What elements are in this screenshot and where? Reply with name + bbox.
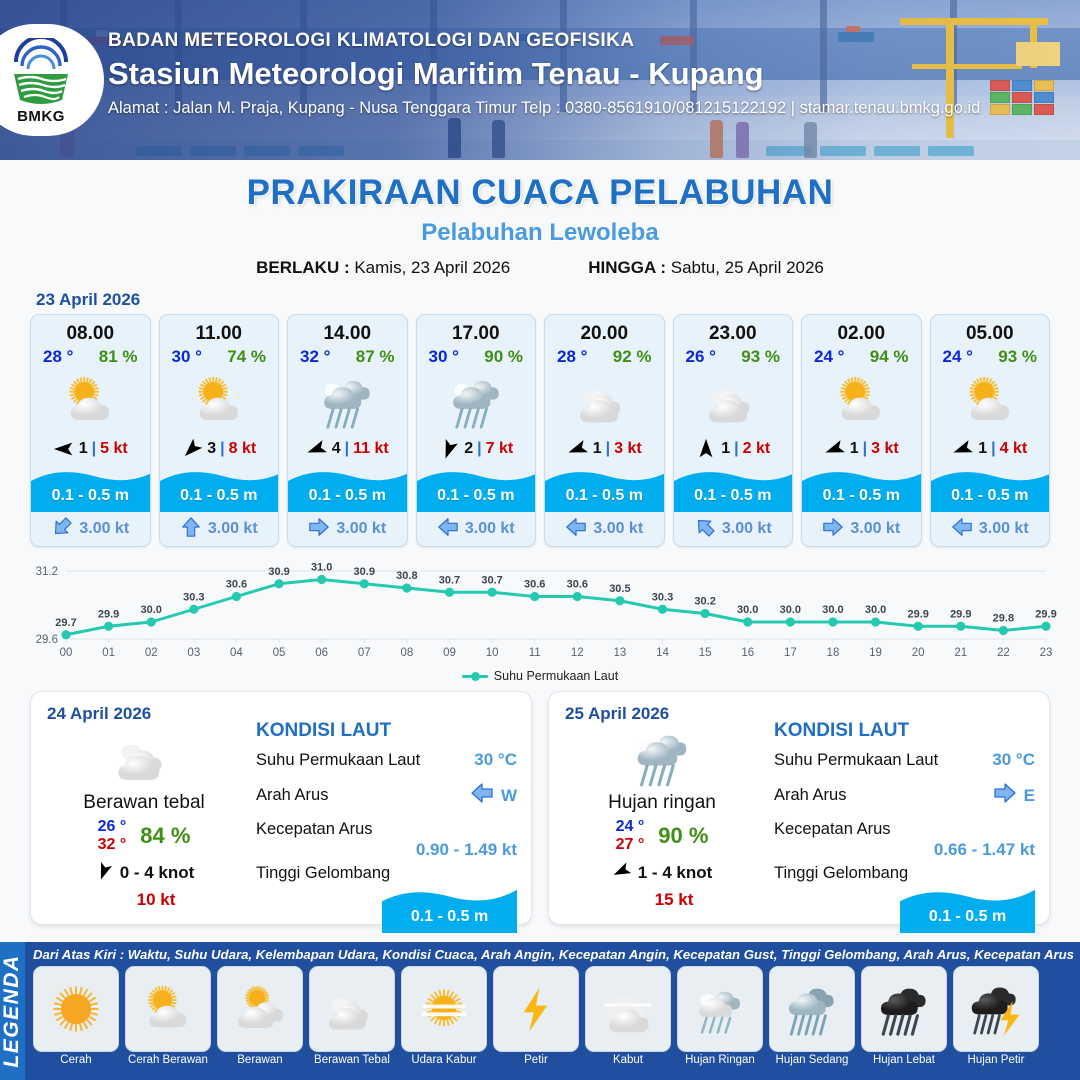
current-speed: 3.00 kt: [79, 520, 129, 538]
wind-direction-icon: [824, 438, 846, 460]
wind-scale: 1: [79, 440, 88, 458]
svg-text:29.9: 29.9: [907, 608, 928, 620]
station-name: Stasiun Meteorologi Maritim Tenau - Kupa…: [108, 56, 980, 92]
wind-row: 3 | 8 kt: [160, 434, 279, 464]
sea-row-label: Suhu Permukaan Laut: [774, 751, 938, 770]
legend-item-label: Berawan: [217, 1054, 303, 1066]
forecast-time: 11.00: [160, 315, 279, 345]
humidity: 92 %: [613, 347, 652, 367]
chart-legend-marker: [462, 675, 488, 678]
wind-separator: |: [991, 440, 995, 458]
wave-height-band: 0.1 - 0.5 m: [417, 465, 536, 512]
svg-text:29.9: 29.9: [1035, 608, 1056, 620]
svg-text:01: 01: [102, 647, 115, 659]
daily-temp-min: 24 °: [616, 818, 645, 836]
current-row: 3.00 kt: [674, 512, 793, 546]
svg-text:08: 08: [400, 647, 413, 659]
wave-height-badge: 0.1 - 0.5 m: [900, 885, 1035, 933]
svg-text:30.9: 30.9: [268, 566, 289, 578]
wave-height-value: 0.1 - 0.5 m: [545, 487, 664, 505]
svg-text:00: 00: [60, 647, 73, 659]
station-address: Alamat : Jalan M. Praja, Kupang - Nusa T…: [108, 99, 980, 118]
forecast-temp-humidity-row: 26 ° 93 %: [674, 345, 793, 367]
sea-condition-title: KONDISI LAUT: [774, 720, 1035, 742]
svg-text:23: 23: [1040, 647, 1053, 659]
wind-speed: 5 kt: [100, 440, 128, 458]
sea-row-value: E: [1024, 786, 1035, 806]
svg-text:03: 03: [187, 647, 200, 659]
legend-item: Berawan Tebal: [309, 966, 395, 1066]
rain-icon: [288, 370, 407, 432]
cloud-icon: [545, 370, 664, 432]
sun-behind-cloud-icon: [217, 966, 303, 1052]
svg-text:07: 07: [358, 647, 371, 659]
wind-separator: |: [345, 440, 349, 458]
current-direction-icon: [951, 516, 973, 543]
wind-scale: 1: [593, 440, 602, 458]
forecast-card: 08.00 28 ° 81 % 1 | 5 kt 0.1 - 0.5 m: [30, 314, 151, 547]
sun-cloud-icon: [802, 370, 921, 432]
current-row: 3.00 kt: [931, 512, 1050, 546]
valid-from-value: Kamis, 23 April 2026: [354, 258, 510, 277]
wind-row: 1 | 5 kt: [31, 434, 150, 464]
forecast-time: 17.00: [417, 315, 536, 345]
port-name: Pelabuhan Lewoleba: [0, 219, 1080, 247]
legend-item: Cerah: [33, 966, 119, 1066]
wind-direction-icon: [438, 438, 460, 460]
svg-text:31.0: 31.0: [311, 562, 332, 574]
legend-item: Kabut: [585, 966, 671, 1066]
air-temperature: 30 °: [172, 347, 202, 367]
east-arrow-icon: [993, 781, 1017, 810]
sea-row-value: W: [501, 786, 517, 806]
legend-item-label: Petir: [493, 1054, 579, 1066]
current-row: 3.00 kt: [417, 512, 536, 546]
air-temperature: 28 °: [43, 347, 73, 367]
svg-text:21: 21: [954, 647, 967, 659]
daily-forecast-row: 24 April 2026 Berawan tebal 26 ° 32 ° 84…: [0, 683, 1080, 925]
daily-wind-range: 1 - 4 knot: [638, 863, 713, 883]
current-direction-icon: [694, 516, 716, 543]
sea-row: Suhu Permukaan Laut 30 °C: [774, 749, 1035, 771]
sea-row-value-wrap: 30 °C: [992, 750, 1035, 770]
lightning-icon: [493, 966, 579, 1052]
svg-text:15: 15: [699, 647, 712, 659]
legend-item-label: Hujan Sedang: [769, 1054, 855, 1066]
daily-wind-row: 0 - 4 knot: [49, 861, 239, 886]
bmkg-logo-text: BMKG: [17, 108, 65, 125]
sea-row-value: 0.90 - 1.49 kt: [256, 840, 517, 860]
daily-temperature-row: 26 ° 32 ° 84 %: [49, 818, 239, 854]
wind-scale: 1: [850, 440, 859, 458]
wave-height-band: 0.1 - 0.5 m: [31, 465, 150, 512]
sea-row-value-wrap: 30 °C: [474, 750, 517, 770]
sun-cloud-icon: [31, 370, 150, 432]
agency-name: BADAN METEOROLOGI KLIMATOLOGI DAN GEOFIS…: [108, 30, 980, 52]
forecast-temp-humidity-row: 30 ° 90 %: [417, 345, 536, 367]
legend-item: Cerah Berawan: [125, 966, 211, 1066]
humidity: 90 %: [484, 347, 523, 367]
wave-height-value: 0.1 - 0.5 m: [288, 487, 407, 505]
wind-direction-icon: [952, 438, 974, 460]
fog-icon: [585, 966, 671, 1052]
sea-row-label: Kecepatan Arus: [774, 820, 1035, 839]
svg-text:06: 06: [315, 647, 328, 659]
wind-speed: 2 kt: [743, 440, 771, 458]
wave-height-band: 0.1 - 0.5 m: [931, 465, 1050, 512]
legend-item-label: Udara Kabur: [401, 1054, 487, 1066]
forecast-card: 11.00 30 ° 74 % 3 | 8 kt 0.1 - 0.5 m: [159, 314, 280, 547]
legend-item-label: Cerah: [33, 1054, 119, 1066]
svg-text:04: 04: [230, 647, 243, 659]
wind-direction-icon: [94, 861, 114, 886]
legend-item: Berawan: [217, 966, 303, 1066]
forecast-card: 02.00 24 ° 94 % 1 | 3 kt 0.1 - 0.5 m: [801, 314, 922, 547]
current-direction-icon: [51, 516, 73, 543]
svg-text:30.0: 30.0: [737, 604, 758, 616]
legend-item-list: Cerah Cerah Berawan Berawan: [33, 966, 1074, 1066]
page-header: BMKG BADAN METEOROLOGI KLIMATOLOGI DAN G…: [0, 0, 1080, 160]
sun-cloud-icon: [160, 370, 279, 432]
legend-item-label: Berawan Tebal: [309, 1054, 395, 1066]
legend-item: Hujan Lebat: [861, 966, 947, 1066]
current-speed: 3.00 kt: [593, 520, 643, 538]
svg-text:29.7: 29.7: [55, 617, 76, 629]
air-temperature: 24 °: [814, 347, 844, 367]
wind-separator: |: [734, 440, 738, 458]
svg-text:30.0: 30.0: [822, 604, 843, 616]
daily-temp-max: 27 °: [616, 836, 645, 854]
wind-separator: |: [220, 440, 224, 458]
daily-temp-min: 26 °: [98, 818, 127, 836]
sea-row-value: 30 °C: [992, 750, 1035, 770]
svg-text:30.0: 30.0: [141, 604, 162, 616]
svg-text:30.7: 30.7: [481, 574, 502, 586]
thunderstorm-icon: [953, 966, 1039, 1052]
sea-condition-block: KONDISI LAUT Suhu Permukaan Laut 30 °C A…: [774, 720, 1035, 937]
forecast-temp-humidity-row: 24 ° 93 %: [931, 345, 1050, 367]
light-rain-icon: [677, 966, 763, 1052]
forecast-date-label: 23 April 2026: [36, 290, 1080, 310]
sea-row-value-wrap: W: [470, 781, 517, 810]
wave-height-band: 0.1 - 0.5 m: [674, 465, 793, 512]
current-row: 3.00 kt: [288, 512, 407, 546]
wave-height-value: 0.1 - 0.5 m: [674, 487, 793, 505]
wind-scale: 2: [464, 440, 473, 458]
forecast-temp-humidity-row: 32 ° 87 %: [288, 345, 407, 367]
daily-condition: Berawan tebal: [49, 792, 239, 814]
air-temperature: 30 °: [429, 347, 459, 367]
wind-row: 1 | 3 kt: [802, 434, 921, 464]
moderate-rain-icon: [769, 966, 855, 1052]
wind-direction-icon: [695, 438, 717, 460]
sea-row-value: 0.66 - 1.47 kt: [774, 840, 1035, 860]
legend-content: Dari Atas Kiri : Waktu, Suhu Udara, Kele…: [25, 942, 1080, 1080]
current-row: 3.00 kt: [802, 512, 921, 546]
wind-separator: |: [477, 440, 481, 458]
page-title: PRAKIRAAN CUACA PELABUHAN: [0, 173, 1080, 213]
forecast-temp-humidity-row: 30 ° 74 %: [160, 345, 279, 367]
sea-row-label: Kecepatan Arus: [256, 820, 517, 839]
svg-text:11: 11: [529, 647, 541, 659]
wind-scale: 1: [978, 440, 987, 458]
current-speed: 3.00 kt: [208, 520, 258, 538]
legend-item: Hujan Ringan: [677, 966, 763, 1066]
wave-height-value: 0.1 - 0.5 m: [931, 487, 1050, 505]
current-row: 3.00 kt: [545, 512, 664, 546]
svg-text:10: 10: [486, 647, 499, 659]
legend-item-label: Cerah Berawan: [125, 1054, 211, 1066]
forecast-card: 17.00 30 ° 90 % 2 | 7 kt 0.1 - 0.: [416, 314, 537, 547]
sun-icon: [33, 966, 119, 1052]
svg-text:29.9: 29.9: [950, 608, 971, 620]
daily-humidity: 84 %: [140, 823, 190, 849]
svg-text:30.2: 30.2: [694, 596, 715, 608]
humidity: 93 %: [741, 347, 780, 367]
current-row: 3.00 kt: [31, 512, 150, 546]
wind-direction-icon: [612, 861, 632, 886]
legend-side-label-wrap: LEGENDA: [0, 942, 25, 1080]
forecast-time: 20.00: [545, 315, 664, 345]
rain-icon: [417, 370, 536, 432]
wind-separator: |: [863, 440, 867, 458]
daily-summary: Hujan ringan 24 ° 27 ° 90 % 1 - 4 knot 1…: [567, 726, 757, 910]
current-direction-icon: [180, 516, 202, 543]
forecast-time: 02.00: [802, 315, 921, 345]
wind-row: 1 | 2 kt: [674, 434, 793, 464]
forecast-time: 14.00: [288, 315, 407, 345]
forecast-temp-humidity-row: 28 ° 81 %: [31, 345, 150, 367]
svg-text:22: 22: [997, 647, 1010, 659]
humidity: 93 %: [998, 347, 1037, 367]
sea-row: Arah Arus E: [774, 781, 1035, 810]
wind-direction-icon: [306, 438, 328, 460]
daily-summary: Berawan tebal 26 ° 32 ° 84 % 0 - 4 knot …: [49, 726, 239, 910]
sea-row-wave: Tinggi Gelombang 0.1 - 0.5 m: [256, 864, 517, 933]
sea-row-value-wrap: E: [993, 781, 1035, 810]
wind-direction-icon: [53, 438, 75, 460]
wind-row: 2 | 7 kt: [417, 434, 536, 464]
wave-height-band: 0.1 - 0.5 m: [802, 465, 921, 512]
legend-side-label: LEGENDA: [0, 954, 24, 1067]
current-speed: 3.00 kt: [465, 520, 515, 538]
legend-item-label: Kabut: [585, 1054, 671, 1066]
sea-row: Kecepatan Arus 0.66 - 1.47 kt: [774, 820, 1035, 860]
svg-text:31.2: 31.2: [36, 566, 58, 578]
sea-row-value: 30 °C: [474, 750, 517, 770]
svg-text:29.9: 29.9: [98, 608, 119, 620]
air-temperature: 28 °: [557, 347, 587, 367]
forecast-card-row: 08.00 28 ° 81 % 1 | 5 kt 0.1 - 0.5 m: [0, 314, 1080, 547]
wave-height-value: 0.1 - 0.5 m: [900, 908, 1035, 926]
forecast-card: 14.00 32 ° 87 % 4 | 11 kt 0.1 - 0: [287, 314, 408, 547]
current-speed: 3.00 kt: [722, 520, 772, 538]
forecast-time: 05.00: [931, 315, 1050, 345]
current-speed: 3.00 kt: [336, 520, 386, 538]
wind-speed: 4 kt: [1000, 440, 1028, 458]
legend-bar: LEGENDA Dari Atas Kiri : Waktu, Suhu Uda…: [0, 942, 1080, 1080]
svg-text:30.3: 30.3: [652, 591, 673, 603]
valid-from-label: BERLAKU :: [256, 258, 350, 277]
legend-item: Hujan Sedang: [769, 966, 855, 1066]
valid-to-label: HINGGA :: [588, 258, 666, 277]
legend-item-label: Hujan Lebat: [861, 1054, 947, 1066]
daily-forecast-panel: 25 April 2026 Hujan ringan 24 ° 27 ° 90 …: [548, 691, 1050, 925]
current-speed: 3.00 kt: [979, 520, 1029, 538]
svg-text:29.6: 29.6: [36, 634, 58, 646]
west-arrow-icon: [470, 781, 494, 810]
wave-height-value: 0.1 - 0.5 m: [802, 487, 921, 505]
wave-height-value: 0.1 - 0.5 m: [31, 487, 150, 505]
valid-to-value: Sabtu, 25 April 2026: [671, 258, 824, 277]
humidity: 81 %: [99, 347, 138, 367]
svg-text:30.3: 30.3: [183, 591, 204, 603]
sea-condition-block: KONDISI LAUT Suhu Permukaan Laut 30 °C A…: [256, 720, 517, 937]
sea-row-wave: Tinggi Gelombang 0.1 - 0.5 m: [774, 864, 1035, 933]
svg-text:30.6: 30.6: [567, 579, 588, 591]
wind-scale: 3: [207, 440, 216, 458]
svg-text:30.7: 30.7: [439, 574, 460, 586]
valid-to: HINGGA : Sabtu, 25 April 2026: [588, 258, 824, 278]
wind-direction-icon: [567, 438, 589, 460]
daily-condition: Hujan ringan: [567, 792, 757, 814]
svg-text:30.8: 30.8: [396, 570, 417, 582]
svg-text:20: 20: [912, 647, 925, 659]
current-speed: 3.00 kt: [850, 520, 900, 538]
svg-text:13: 13: [614, 647, 627, 659]
svg-text:12: 12: [571, 647, 584, 659]
wave-height-badge: 0.1 - 0.5 m: [382, 885, 517, 933]
svg-text:30.0: 30.0: [780, 604, 801, 616]
svg-text:17: 17: [784, 647, 797, 659]
forecast-time: 08.00: [31, 315, 150, 345]
wave-height-band: 0.1 - 0.5 m: [160, 465, 279, 512]
humidity: 87 %: [356, 347, 395, 367]
svg-text:16: 16: [741, 647, 754, 659]
legend-item: Petir: [493, 966, 579, 1066]
legend-item-label: Hujan Ringan: [677, 1054, 763, 1066]
current-direction-icon: [437, 516, 459, 543]
wind-speed: 8 kt: [229, 440, 257, 458]
svg-text:30.5: 30.5: [609, 583, 630, 595]
validity-row: BERLAKU : Kamis, 23 April 2026 HINGGA : …: [0, 258, 1080, 278]
wave-height-band: 0.1 - 0.5 m: [288, 465, 407, 512]
legend-item: Udara Kabur: [401, 966, 487, 1066]
header-text-block: BADAN METEOROLOGI KLIMATOLOGI DAN GEOFIS…: [108, 30, 980, 118]
wind-direction-icon: [181, 438, 203, 460]
current-direction-icon: [565, 516, 587, 543]
svg-text:18: 18: [827, 647, 840, 659]
sea-row: Arah Arus W: [256, 781, 517, 810]
legend-item-label: Hujan Petir: [953, 1054, 1039, 1066]
svg-text:30.0: 30.0: [865, 604, 886, 616]
svg-text:05: 05: [273, 647, 286, 659]
svg-text:30.6: 30.6: [524, 579, 545, 591]
svg-text:02: 02: [145, 647, 158, 659]
sea-row: Suhu Permukaan Laut 30 °C: [256, 749, 517, 771]
title-section: PRAKIRAAN CUACA PELABUHAN Pelabuhan Lewo…: [0, 160, 1080, 278]
forecast-card: 23.00 26 ° 93 % 1 | 2 kt 0.1 - 0.: [673, 314, 794, 547]
svg-text:14: 14: [656, 647, 669, 659]
daily-gust: 10 kt: [73, 890, 239, 910]
chart-legend: Suhu Permukaan Laut: [0, 669, 1080, 683]
daily-wind-row: 1 - 4 knot: [567, 861, 757, 886]
rain-icon: [567, 726, 757, 788]
wind-speed: 3 kt: [871, 440, 899, 458]
daily-humidity: 90 %: [658, 823, 708, 849]
wind-speed: 7 kt: [486, 440, 514, 458]
sea-row-label: Arah Arus: [256, 786, 328, 805]
wave-height-value: 0.1 - 0.5 m: [160, 487, 279, 505]
daily-temperature-row: 24 ° 27 ° 90 %: [567, 818, 757, 854]
wave-height-value: 0.1 - 0.5 m: [417, 487, 536, 505]
sst-chart: 29.631.229.70029.90130.00230.30330.60430…: [20, 557, 1060, 667]
sea-row-label: Suhu Permukaan Laut: [256, 751, 420, 770]
air-temperature: 24 °: [943, 347, 973, 367]
svg-text:30.9: 30.9: [354, 566, 375, 578]
valid-from: BERLAKU : Kamis, 23 April 2026: [256, 258, 510, 278]
sea-row-label: Arah Arus: [774, 786, 846, 805]
wind-row: 4 | 11 kt: [288, 434, 407, 464]
forecast-card: 05.00 24 ° 93 % 1 | 4 kt 0.1 - 0.5 m: [930, 314, 1051, 547]
wind-scale: 1: [721, 440, 730, 458]
wind-row: 1 | 4 kt: [931, 434, 1050, 464]
cloud-icon: [309, 966, 395, 1052]
heavy-rain-icon: [861, 966, 947, 1052]
legend-note: Dari Atas Kiri : Waktu, Suhu Udara, Kele…: [33, 947, 1074, 962]
air-temperature: 32 °: [300, 347, 330, 367]
svg-text:29.8: 29.8: [993, 613, 1014, 625]
svg-text:09: 09: [443, 647, 456, 659]
svg-text:30.6: 30.6: [226, 579, 247, 591]
sun-cloud-icon: [125, 966, 211, 1052]
sea-row: Kecepatan Arus 0.90 - 1.49 kt: [256, 820, 517, 860]
current-direction-icon: [308, 516, 330, 543]
wind-speed: 3 kt: [614, 440, 642, 458]
sun-cloud-icon: [931, 370, 1050, 432]
daily-temp-column: 24 ° 27 °: [616, 818, 645, 854]
wind-separator: |: [92, 440, 96, 458]
sea-row-label: Tinggi Gelombang: [774, 864, 1035, 883]
daily-temp-max: 32 °: [98, 836, 127, 854]
forecast-time: 23.00: [674, 315, 793, 345]
bmkg-logo-mark: [4, 38, 78, 110]
daily-gust: 15 kt: [591, 890, 757, 910]
current-row: 3.00 kt: [160, 512, 279, 546]
daily-forecast-panel: 24 April 2026 Berawan tebal 26 ° 32 ° 84…: [30, 691, 532, 925]
sea-row-label: Tinggi Gelombang: [256, 864, 517, 883]
air-temperature: 26 °: [686, 347, 716, 367]
haze-icon: [401, 966, 487, 1052]
wind-scale: 4: [332, 440, 341, 458]
chart-legend-label: Suhu Permukaan Laut: [494, 669, 618, 683]
current-direction-icon: [822, 516, 844, 543]
wind-row: 1 | 3 kt: [545, 434, 664, 464]
legend-item: Hujan Petir: [953, 966, 1039, 1066]
daily-temp-column: 26 ° 32 °: [98, 818, 127, 854]
svg-text:19: 19: [869, 647, 882, 659]
forecast-temp-humidity-row: 28 ° 92 %: [545, 345, 664, 367]
sea-condition-title: KONDISI LAUT: [256, 720, 517, 742]
wind-separator: |: [606, 440, 610, 458]
wind-speed: 11 kt: [353, 440, 389, 458]
wave-height-value: 0.1 - 0.5 m: [382, 908, 517, 926]
wave-height-band: 0.1 - 0.5 m: [545, 465, 664, 512]
daily-wind-range: 0 - 4 knot: [120, 863, 195, 883]
cloud-icon: [674, 370, 793, 432]
forecast-temp-humidity-row: 24 ° 94 %: [802, 345, 921, 367]
forecast-card: 20.00 28 ° 92 % 1 | 3 kt 0.1 - 0.: [544, 314, 665, 547]
